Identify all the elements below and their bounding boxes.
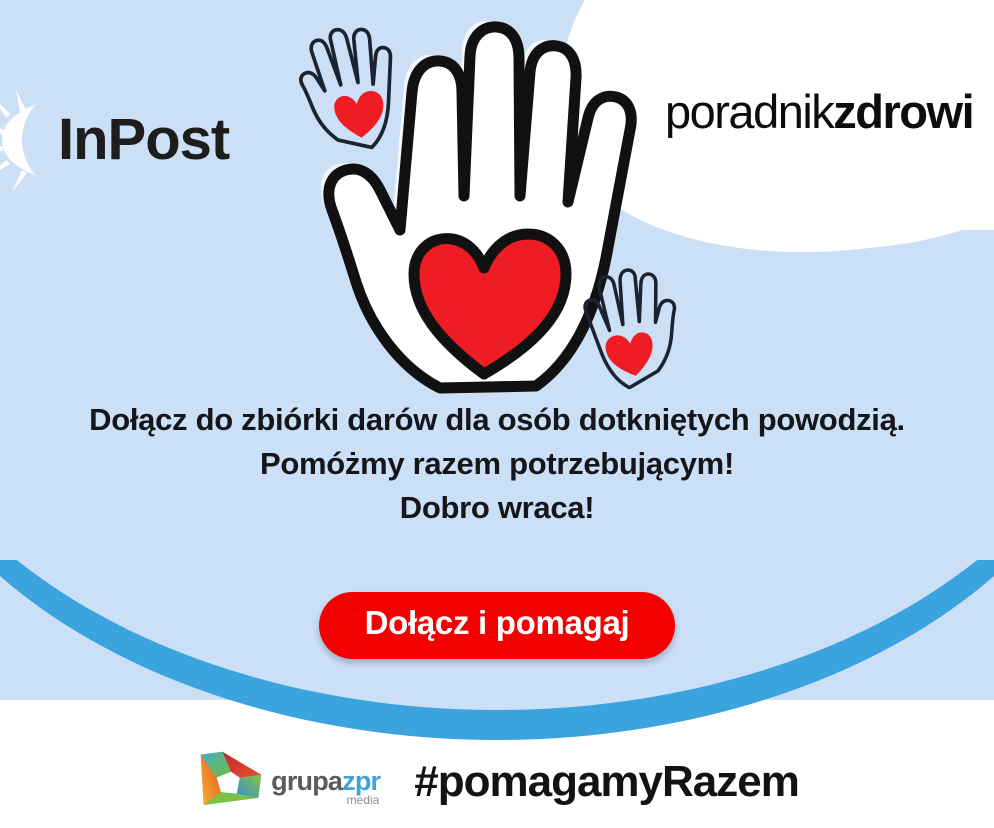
campaign-banner: InPost poradnikzdrowi Dołącz do zb — [0, 0, 994, 828]
headline-line-1: Dołącz do zbiórki darów dla osób dotknię… — [0, 398, 994, 442]
inpost-sun-icon — [0, 80, 56, 200]
zpr-star-icon — [195, 746, 267, 818]
headline-line-2: Pomóżmy razem potrzebującym! — [0, 442, 994, 486]
footer-bar: grupazpr media #pomagamyRazem — [0, 735, 994, 828]
zpr-grupa-text: grupa — [271, 766, 342, 796]
headline-line-3: Dobro wraca! — [0, 486, 994, 530]
headline-block: Dołącz do zbiórki darów dla osób dotknię… — [0, 398, 994, 530]
zpr-media-text: media — [347, 794, 380, 806]
grupa-zpr-media-wordmark[interactable]: grupazpr media — [271, 768, 380, 795]
inpost-logo[interactable]: InPost — [0, 80, 246, 200]
helping-hands-illustration — [288, 0, 698, 396]
poradnikzdrowie-bold-text: zdrowi — [833, 85, 973, 138]
zpr-zpr-text: zpr — [342, 766, 380, 796]
cta-container: Dołącz i pomagaj — [0, 592, 994, 659]
inpost-wordmark: InPost — [58, 111, 229, 169]
join-and-help-button[interactable]: Dołącz i pomagaj — [319, 592, 676, 659]
small-hand-top-left — [295, 23, 403, 156]
poradnikzdrowie-logo[interactable]: poradnikzdrowi — [665, 84, 973, 140]
campaign-hashtag: #pomagamyRazem — [414, 757, 799, 807]
